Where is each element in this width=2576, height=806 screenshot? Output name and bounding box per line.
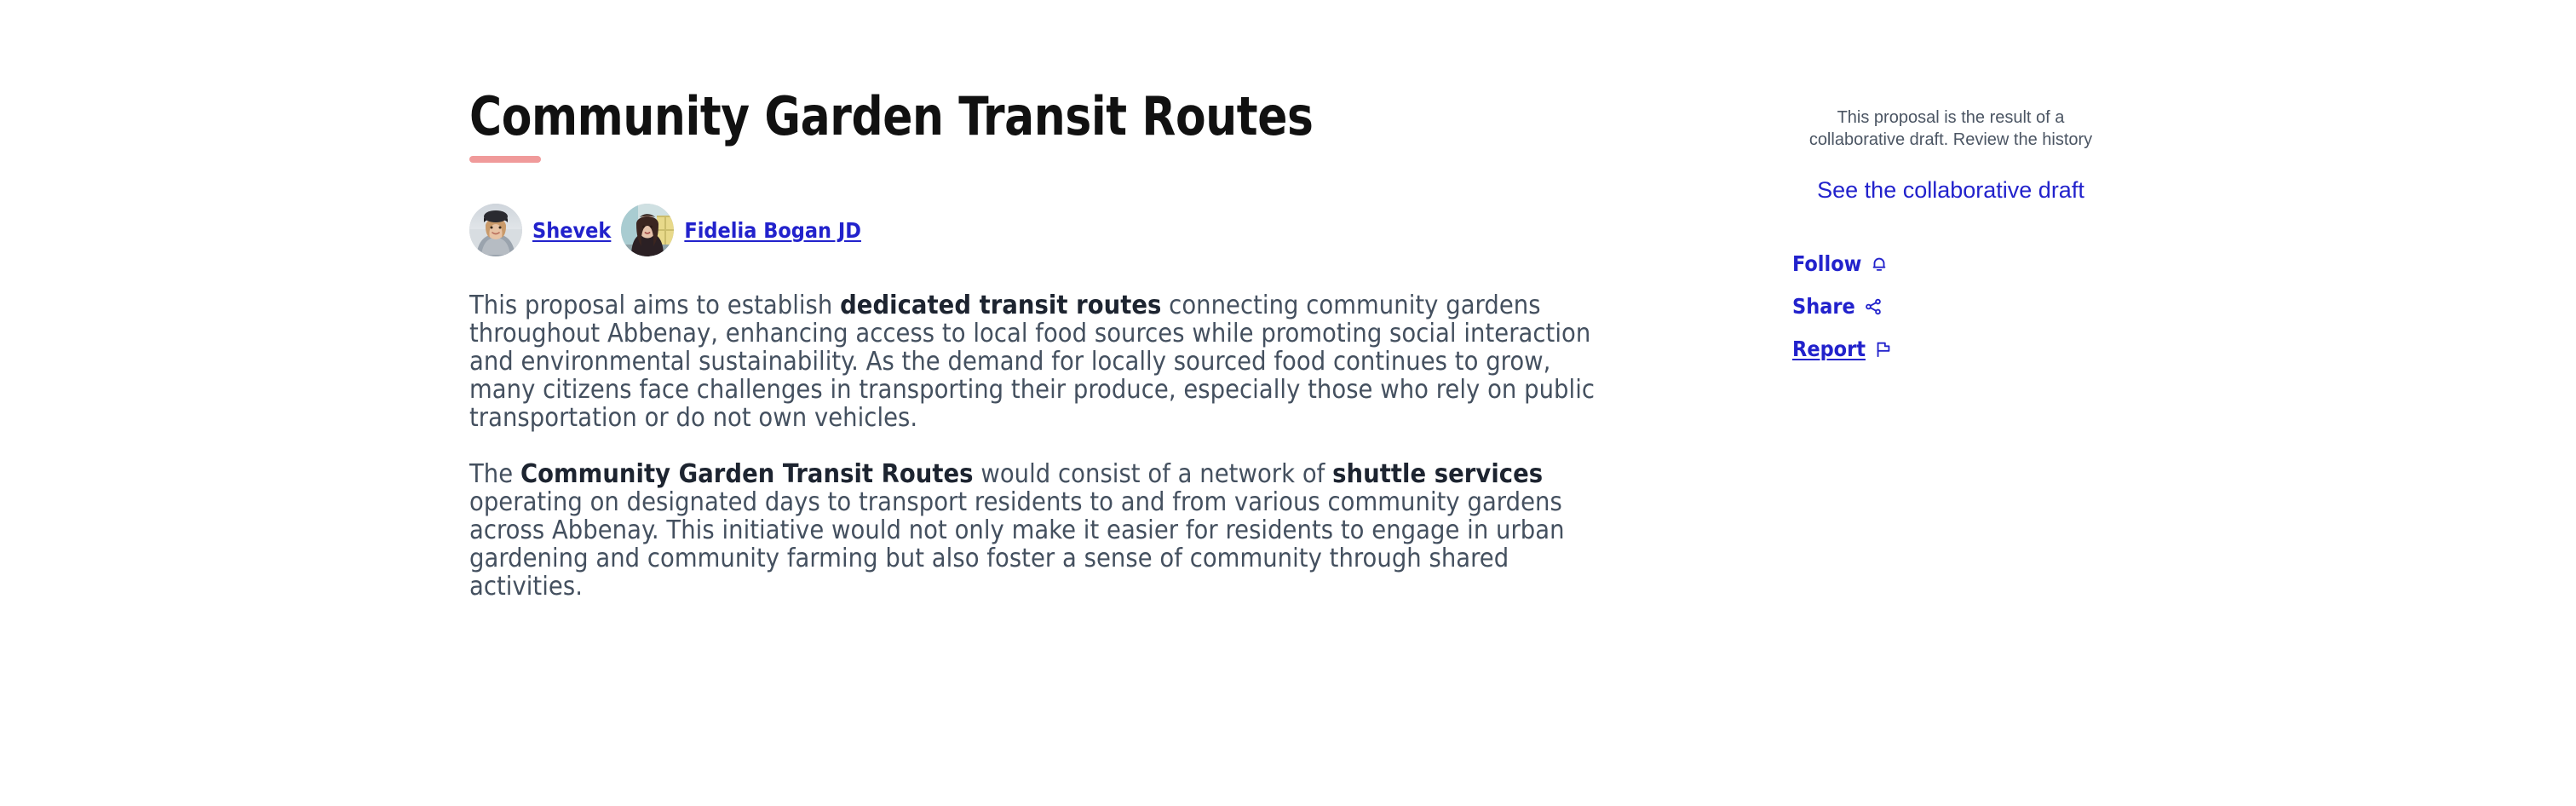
follow-label: Follow (1792, 253, 1861, 274)
rail-actions: Follow Share (1789, 253, 2113, 360)
avatar-fidelia-bogan-jd (621, 204, 674, 256)
document-page: Community Garden Transit Routes (0, 0, 2576, 806)
emphasis-text: dedicated transit routes (840, 291, 1161, 320)
flag-icon (1873, 339, 1894, 360)
emphasis-text: shuttle services (1332, 459, 1543, 489)
author-entry: Fidelia Bogan JD (621, 204, 861, 256)
bell-icon (1869, 254, 1889, 274)
report-button[interactable]: Report (1792, 338, 1894, 360)
avatar-shevek (469, 204, 522, 256)
title-accent-rule (469, 156, 541, 163)
share-nodes-icon (1863, 296, 1883, 317)
paragraph-1: This proposal aims to establish dedicate… (469, 291, 1619, 432)
article-body: This proposal aims to establish dedicate… (469, 291, 1619, 601)
body-text: The (469, 459, 520, 489)
body-text: operating on designated days to transpor… (469, 487, 1565, 602)
body-text: would consist of a network of (974, 459, 1333, 489)
share-label: Share (1792, 296, 1855, 317)
see-collaborative-draft-link[interactable]: See the collaborative draft (1789, 176, 2113, 204)
author-link-fidelia-bogan-jd[interactable]: Fidelia Bogan JD (684, 218, 861, 243)
author-link-shevek[interactable]: Shevek (532, 218, 611, 243)
collaborative-draft-note: This proposal is the result of a collabo… (1789, 107, 2113, 151)
body-text: This proposal aims to establish (469, 291, 840, 320)
share-button[interactable]: Share (1792, 296, 1883, 317)
follow-button[interactable]: Follow (1792, 253, 1889, 274)
article-column: Community Garden Transit Routes (469, 89, 1619, 601)
sidebar-rail: This proposal is the result of a collabo… (1789, 0, 2113, 381)
page-title: Community Garden Transit Routes (469, 89, 1539, 144)
author-entry: Shevek (469, 204, 611, 256)
report-label: Report (1792, 338, 1866, 360)
paragraph-2: The Community Garden Transit Routes woul… (469, 460, 1619, 601)
byline: Shevek (469, 203, 1619, 257)
emphasis-text: Community Garden Transit Routes (520, 459, 974, 489)
